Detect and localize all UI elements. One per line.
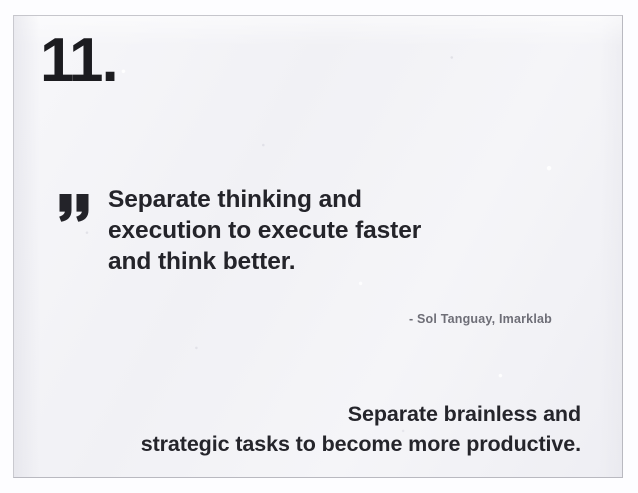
quote-text: Separate thinking and execution to execu… bbox=[58, 184, 588, 277]
closing-line-2: strategic tasks to become more productiv… bbox=[32, 429, 581, 459]
closing-statement: Separate brainless and strategic tasks t… bbox=[32, 399, 581, 459]
quote-block: Separate thinking and execution to execu… bbox=[58, 184, 588, 277]
quote-line-1: Separate thinking and bbox=[108, 184, 588, 215]
quote-line-3: and think better. bbox=[108, 246, 588, 277]
quote-line-2: execution to execute faster bbox=[108, 215, 588, 246]
slide-number: 11. bbox=[40, 30, 117, 92]
slide-root: 11. Separate thinking and execution to e… bbox=[0, 0, 638, 493]
quote-attribution: - Sol Tanguay, Imarklab bbox=[58, 312, 552, 326]
closing-line-1: Separate brainless and bbox=[32, 399, 581, 429]
slide-frame: 11. Separate thinking and execution to e… bbox=[13, 15, 623, 478]
open-quote-icon bbox=[58, 194, 92, 222]
